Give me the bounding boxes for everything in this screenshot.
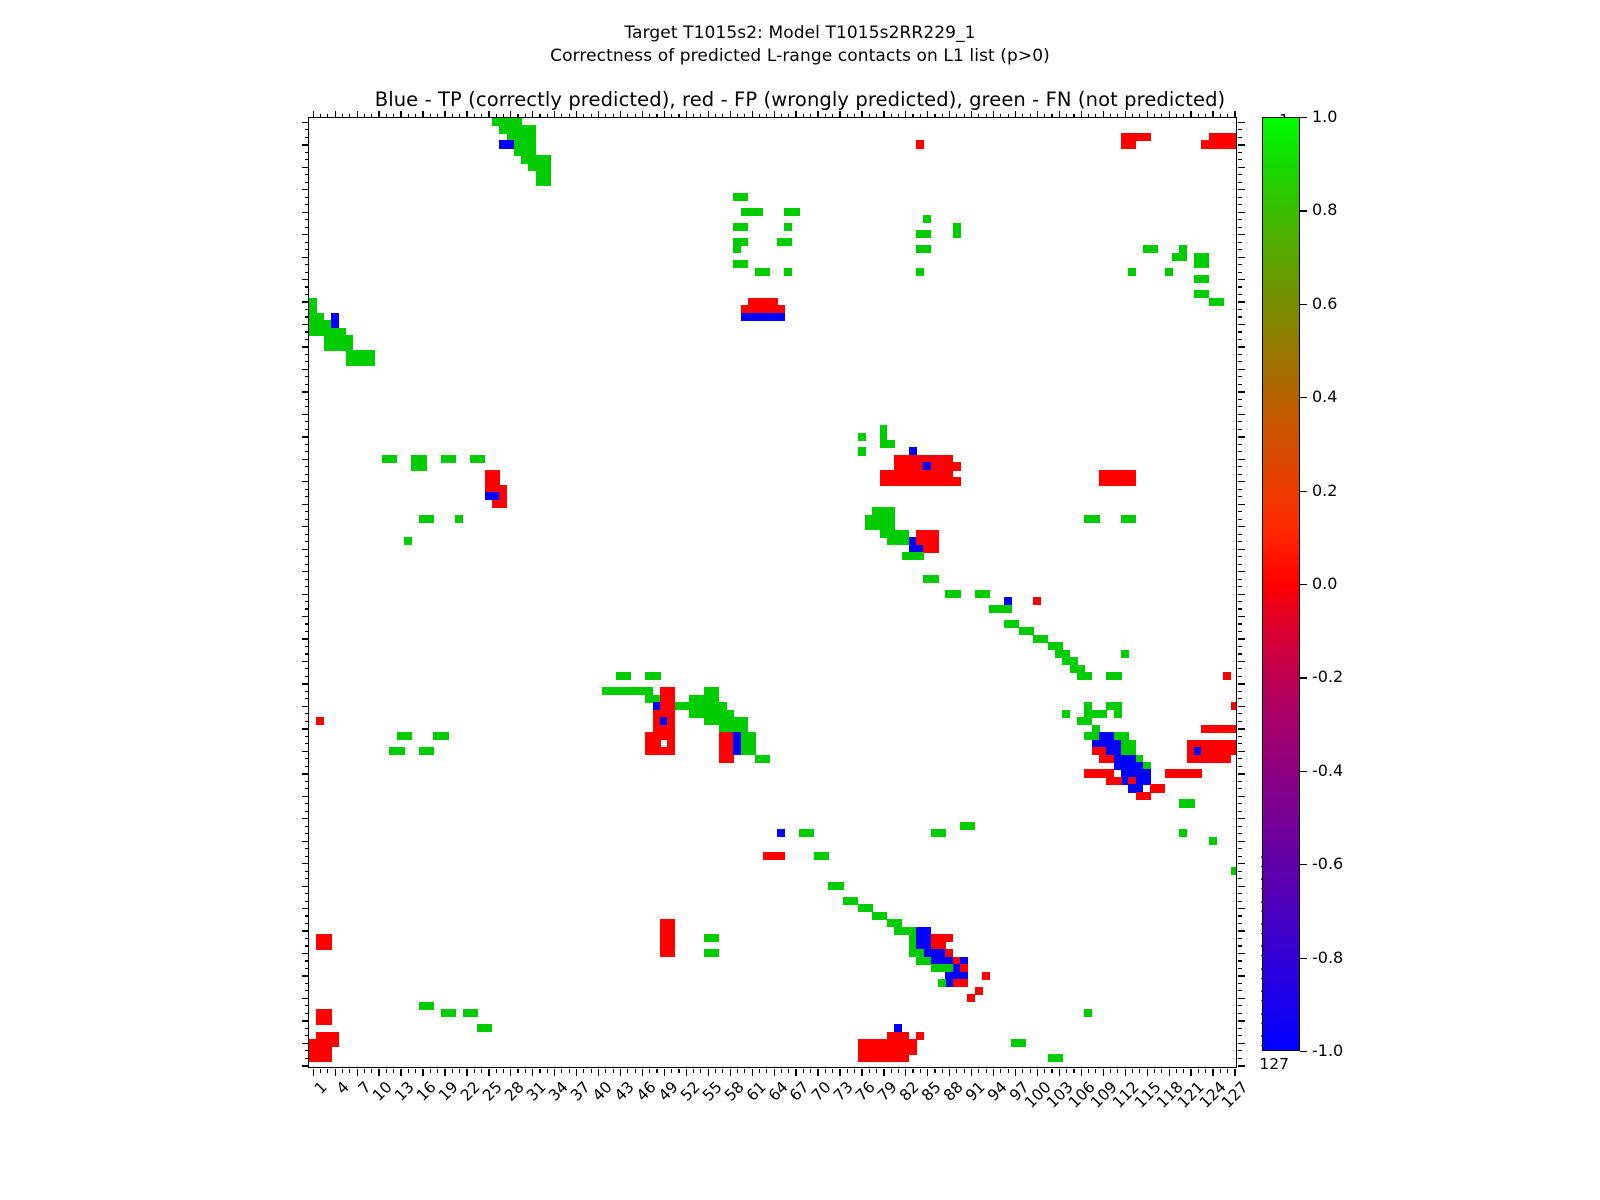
colorbar-label: 0.2	[1312, 483, 1337, 499]
contact-cell	[784, 238, 792, 246]
x-tick	[561, 1069, 562, 1073]
x-tick	[1015, 1069, 1016, 1076]
colorbar-label: 0.8	[1312, 202, 1337, 218]
x-tick-top	[466, 111, 467, 118]
y-tick-right	[1238, 886, 1245, 887]
y-tick-right	[1238, 623, 1242, 624]
x-tick-top	[583, 114, 584, 118]
x-tick-top	[1139, 114, 1140, 118]
x-tick-top	[532, 111, 533, 118]
y-tick-right	[1238, 871, 1242, 872]
y-tick-right	[1238, 901, 1242, 902]
contact-cell	[1158, 784, 1166, 792]
y-tick-right	[1238, 975, 1245, 976]
x-tick	[1139, 1069, 1140, 1073]
x-tick	[591, 1069, 592, 1073]
contact-cell	[953, 230, 961, 238]
x-tick	[949, 1069, 950, 1076]
contact-cell	[916, 268, 924, 276]
y-tick	[302, 751, 309, 752]
y-tick-right	[1238, 1005, 1242, 1006]
colorbar-tick	[1300, 397, 1307, 398]
x-tick-top	[656, 114, 657, 118]
y-tick-right	[1238, 451, 1242, 452]
y-tick-right	[1238, 631, 1242, 632]
y-tick	[305, 152, 309, 153]
contact-cell	[1084, 1009, 1092, 1017]
contact-cell	[331, 1039, 339, 1047]
contact-cell	[404, 732, 412, 740]
x-tick-top	[342, 114, 343, 118]
x-tick-top	[408, 114, 409, 118]
x-tick	[342, 1069, 343, 1073]
y-tick	[305, 668, 309, 669]
y-tick	[305, 496, 309, 497]
y-tick-right	[1238, 668, 1242, 669]
x-tick	[810, 1069, 811, 1073]
y-tick-right	[1238, 534, 1242, 535]
y-tick	[305, 294, 309, 295]
y-tick-right	[1238, 137, 1242, 138]
y-tick	[302, 346, 309, 347]
contact-cell	[982, 590, 990, 598]
x-tick-top	[1030, 114, 1031, 118]
x-tick-top	[795, 111, 796, 118]
contact-cell	[1055, 1054, 1063, 1062]
contact-cell	[316, 717, 324, 725]
y-tick	[305, 893, 309, 894]
x-tick-top	[781, 114, 782, 118]
contact-cell	[1231, 747, 1236, 755]
y-tick	[302, 818, 309, 819]
y-tick	[302, 1020, 309, 1021]
contact-cell	[1165, 268, 1173, 276]
contact-cell	[404, 537, 412, 545]
y-tick	[305, 901, 309, 902]
y-tick-right	[1238, 122, 1245, 123]
x-tick	[349, 1069, 350, 1073]
y-tick-right	[1238, 331, 1242, 332]
x-tick	[744, 1069, 745, 1073]
x-tick-top	[1037, 111, 1038, 118]
x-tick	[1008, 1069, 1009, 1073]
x-tick	[1176, 1069, 1177, 1073]
y-tick	[305, 691, 309, 692]
x-tick-top	[320, 114, 321, 118]
x-tick	[598, 1069, 599, 1076]
x-tick	[1088, 1069, 1089, 1073]
y-tick	[302, 616, 309, 617]
contact-cell	[916, 140, 924, 148]
y-tick	[305, 534, 309, 535]
contact-cell	[975, 987, 983, 995]
contact-cell	[1092, 515, 1100, 523]
x-tick-top	[1169, 111, 1170, 118]
y-tick	[305, 601, 309, 602]
title-line-2: Correctness of predicted L-range contact…	[0, 45, 1600, 68]
y-tick-right	[1238, 930, 1245, 931]
x-tick	[583, 1069, 584, 1073]
x-tick	[1227, 1069, 1228, 1073]
contact-cell	[784, 223, 792, 231]
contact-cell	[741, 223, 749, 231]
contact-cell	[1231, 702, 1236, 710]
x-tick-top	[861, 111, 862, 118]
x-tick	[839, 1069, 840, 1076]
x-tick-top	[598, 111, 599, 118]
x-tick-top	[649, 114, 650, 118]
x-tick-top	[920, 114, 921, 118]
y-tick-right	[1238, 339, 1242, 340]
y-tick-right	[1238, 316, 1242, 317]
x-tick-top	[415, 114, 416, 118]
x-tick-top	[444, 111, 445, 118]
y-tick-right	[1238, 249, 1242, 250]
y-tick-right	[1238, 676, 1242, 677]
y-tick-right	[1238, 923, 1242, 924]
x-tick-top	[693, 114, 694, 118]
contact-cell	[397, 747, 405, 755]
y-tick	[302, 886, 309, 887]
x-tick-top	[627, 114, 628, 118]
y-tick	[302, 841, 309, 842]
x-tick	[956, 1069, 957, 1073]
x-tick-top	[591, 114, 592, 118]
x-tick	[978, 1069, 979, 1073]
y-tick	[302, 257, 309, 258]
contact-cell	[1209, 837, 1217, 845]
x-tick-top	[313, 111, 314, 118]
y-tick	[302, 571, 309, 572]
colorbar-label: -1.0	[1312, 1043, 1343, 1059]
x-tick-top	[371, 114, 372, 118]
x-tick	[1037, 1069, 1038, 1076]
y-tick-right	[1238, 803, 1242, 804]
x-tick-top	[1117, 114, 1118, 118]
x-tick-top	[400, 111, 401, 118]
contact-cell	[967, 822, 975, 830]
x-tick	[481, 1069, 482, 1073]
y-tick	[305, 1028, 309, 1029]
y-tick-right	[1238, 811, 1242, 812]
y-tick-right	[1238, 354, 1242, 355]
contact-cell	[916, 1032, 924, 1040]
x-tick	[759, 1069, 760, 1073]
x-tick	[605, 1069, 606, 1073]
colorbar-label: 1.0	[1312, 109, 1337, 125]
y-tick	[305, 466, 309, 467]
x-tick	[437, 1069, 438, 1073]
y-tick	[302, 773, 309, 774]
y-tick	[305, 983, 309, 984]
contact-cell	[931, 545, 939, 553]
y-tick-right	[1238, 414, 1245, 415]
contact-cell	[887, 440, 895, 448]
contact-cell	[858, 447, 866, 455]
contact-cell	[324, 942, 332, 950]
y-tick	[305, 698, 309, 699]
x-tick	[459, 1069, 460, 1073]
y-tick-right	[1238, 773, 1245, 774]
y-tick	[302, 1065, 309, 1066]
x-tick	[532, 1069, 533, 1076]
y-tick-right	[1238, 968, 1242, 969]
y-tick-right	[1238, 878, 1242, 879]
y-tick-right	[1238, 189, 1245, 190]
y-tick-right	[1238, 406, 1242, 407]
x-tick-top	[752, 111, 753, 118]
y-tick-right	[1238, 698, 1242, 699]
x-tick-top	[1154, 114, 1155, 118]
y-tick-right	[1238, 257, 1245, 258]
y-tick	[302, 1043, 309, 1044]
y-tick-right	[1238, 983, 1242, 984]
x-tick	[722, 1069, 723, 1073]
y-tick	[302, 459, 309, 460]
x-tick-top	[956, 114, 957, 118]
x-tick	[1117, 1069, 1118, 1073]
x-tick	[430, 1069, 431, 1073]
y-tick	[302, 796, 309, 797]
y-tick	[305, 676, 309, 677]
contact-cell	[923, 230, 931, 238]
x-tick	[400, 1069, 401, 1076]
y-tick	[305, 848, 309, 849]
contact-cell	[1128, 515, 1136, 523]
x-tick	[934, 1069, 935, 1073]
y-tick-right	[1238, 466, 1242, 467]
contact-cell	[543, 178, 551, 186]
contact-cell	[485, 1024, 493, 1032]
contact-cell	[1179, 253, 1187, 261]
y-tick	[302, 391, 309, 392]
x-tick	[371, 1069, 372, 1073]
y-tick-right	[1238, 616, 1245, 617]
contact-cell	[741, 260, 749, 268]
x-tick	[620, 1069, 621, 1076]
contact-cell	[784, 268, 792, 276]
x-tick	[452, 1069, 453, 1073]
x-tick-top	[686, 111, 687, 118]
y-tick	[302, 369, 309, 370]
y-tick	[305, 339, 309, 340]
y-tick-right	[1238, 788, 1242, 789]
y-tick-right	[1238, 1058, 1242, 1059]
contact-cell	[777, 313, 785, 321]
y-tick	[305, 421, 309, 422]
x-tick-top	[1227, 114, 1228, 118]
x-tick	[503, 1069, 504, 1073]
title-line-1: Target T1015s2: Model T1015s2RR229_1	[0, 22, 1600, 45]
contact-cell	[1201, 275, 1209, 283]
contact-cell	[1231, 140, 1236, 148]
contact-cell	[389, 455, 397, 463]
x-tick-top	[378, 111, 379, 118]
y-tick-right	[1238, 421, 1242, 422]
x-tick-top	[386, 114, 387, 118]
y-tick	[305, 871, 309, 872]
x-tick-top	[700, 114, 701, 118]
contact-cell	[1004, 605, 1012, 613]
colorbar-tick	[1300, 117, 1307, 118]
x-tick-top	[327, 114, 328, 118]
y-tick	[302, 930, 309, 931]
x-tick	[1147, 1069, 1148, 1076]
x-tick	[1000, 1069, 1001, 1073]
x-tick-top	[1147, 111, 1148, 118]
y-tick	[305, 376, 309, 377]
y-tick	[305, 608, 309, 609]
y-tick	[305, 811, 309, 812]
y-tick-right	[1238, 279, 1245, 280]
contact-cell	[667, 747, 675, 755]
x-tick-top	[766, 114, 767, 118]
contact-cell	[1150, 245, 1158, 253]
figure-canvas: Target T1015s2: Model T1015s2RR229_1 Cor…	[0, 0, 1600, 1200]
y-tick	[302, 998, 309, 999]
x-tick	[825, 1069, 826, 1073]
y-tick-right	[1238, 481, 1245, 482]
x-tick	[1220, 1069, 1221, 1073]
x-tick-top	[393, 114, 394, 118]
y-tick-right	[1238, 848, 1242, 849]
y-tick	[305, 272, 309, 273]
y-tick-right	[1238, 1013, 1242, 1014]
x-tick	[539, 1069, 540, 1073]
x-tick-top	[803, 114, 804, 118]
x-tick-top	[993, 111, 994, 118]
x-tick	[415, 1069, 416, 1073]
x-tick	[656, 1069, 657, 1073]
y-tick	[305, 474, 309, 475]
contact-cell	[1062, 710, 1070, 718]
y-tick	[305, 766, 309, 767]
x-tick	[971, 1069, 972, 1076]
y-tick	[305, 249, 309, 250]
x-tick-top	[576, 111, 577, 118]
x-tick	[649, 1069, 650, 1073]
y-tick	[305, 219, 309, 220]
x-tick-top	[357, 111, 358, 118]
legend-title: Blue - TP (correctly predicted), red - F…	[0, 88, 1600, 111]
x-tick	[1103, 1069, 1104, 1076]
contact-cell	[960, 979, 968, 987]
x-tick-top	[561, 114, 562, 118]
y-tick	[305, 721, 309, 722]
y-tick	[305, 489, 309, 490]
y-tick-right	[1238, 556, 1242, 557]
x-tick	[1212, 1069, 1213, 1076]
y-tick	[305, 968, 309, 969]
x-tick-top	[452, 114, 453, 118]
y-tick	[302, 481, 309, 482]
y-tick-right	[1238, 197, 1242, 198]
y-tick-right	[1238, 743, 1242, 744]
y-tick	[302, 953, 309, 954]
y-tick	[305, 444, 309, 445]
x-tick-top	[1103, 111, 1104, 118]
y-tick-right	[1238, 294, 1242, 295]
y-tick	[305, 803, 309, 804]
y-tick	[305, 856, 309, 857]
y-tick-right	[1238, 272, 1242, 273]
x-tick-top	[839, 111, 840, 118]
x-tick	[422, 1069, 423, 1076]
y-tick-right	[1238, 706, 1245, 707]
x-tick-top	[678, 114, 679, 118]
x-tick	[466, 1069, 467, 1076]
contact-cell	[1194, 769, 1202, 777]
x-tick-top	[488, 111, 489, 118]
y-tick-right	[1238, 459, 1245, 460]
y-tick-right	[1238, 826, 1242, 827]
y-tick	[302, 728, 309, 729]
y-tick	[302, 436, 309, 437]
x-tick-top	[1205, 114, 1206, 118]
contact-cell	[1128, 477, 1136, 485]
contact-cell	[726, 755, 734, 763]
contact-cell	[777, 852, 785, 860]
y-tick-right	[1238, 309, 1242, 310]
x-tick-top	[422, 111, 423, 118]
y-tick	[302, 683, 309, 684]
x-tick-top	[1234, 111, 1235, 118]
x-tick	[386, 1069, 387, 1073]
x-tick-top	[569, 114, 570, 118]
contact-map-plot[interactable]	[308, 117, 1237, 1068]
y-tick-right	[1238, 915, 1242, 916]
x-tick-top	[605, 114, 606, 118]
x-tick-top	[1183, 114, 1184, 118]
colorbar-tick	[1300, 210, 1307, 211]
x-tick-top	[774, 111, 775, 118]
x-tick	[335, 1069, 336, 1076]
contact-cell	[1201, 260, 1209, 268]
y-axis-label: 127	[1259, 1057, 1289, 1073]
y-tick	[305, 1005, 309, 1006]
x-tick-top	[737, 114, 738, 118]
x-tick	[1081, 1069, 1082, 1076]
contact-cell	[916, 552, 924, 560]
y-tick	[305, 331, 309, 332]
y-tick-right	[1238, 781, 1242, 782]
x-tick	[905, 1069, 906, 1076]
x-tick-top	[620, 111, 621, 118]
x-tick	[1030, 1069, 1031, 1073]
y-tick-right	[1238, 594, 1245, 595]
x-tick	[378, 1069, 379, 1076]
y-tick-right	[1238, 399, 1242, 400]
x-tick-top	[715, 114, 716, 118]
colorbar-tick	[1300, 491, 1307, 492]
x-tick-top	[642, 111, 643, 118]
colorbar-label: 0.4	[1312, 389, 1337, 405]
x-tick	[393, 1069, 394, 1073]
colorbar[interactable]: 1.00.80.60.40.20.0-0.2-0.4-0.6-0.8-1.0	[1262, 117, 1300, 1051]
x-tick-top	[1000, 114, 1001, 118]
y-tick-right	[1238, 346, 1245, 347]
x-tick	[715, 1069, 716, 1073]
y-tick-right	[1238, 1028, 1242, 1029]
contact-cell	[1231, 867, 1236, 875]
contact-cell	[1121, 650, 1129, 658]
y-tick	[305, 743, 309, 744]
x-tick	[554, 1069, 555, 1076]
y-tick	[305, 361, 309, 362]
x-tick	[912, 1069, 913, 1073]
x-tick-top	[1051, 114, 1052, 118]
y-tick-right	[1238, 1020, 1245, 1021]
